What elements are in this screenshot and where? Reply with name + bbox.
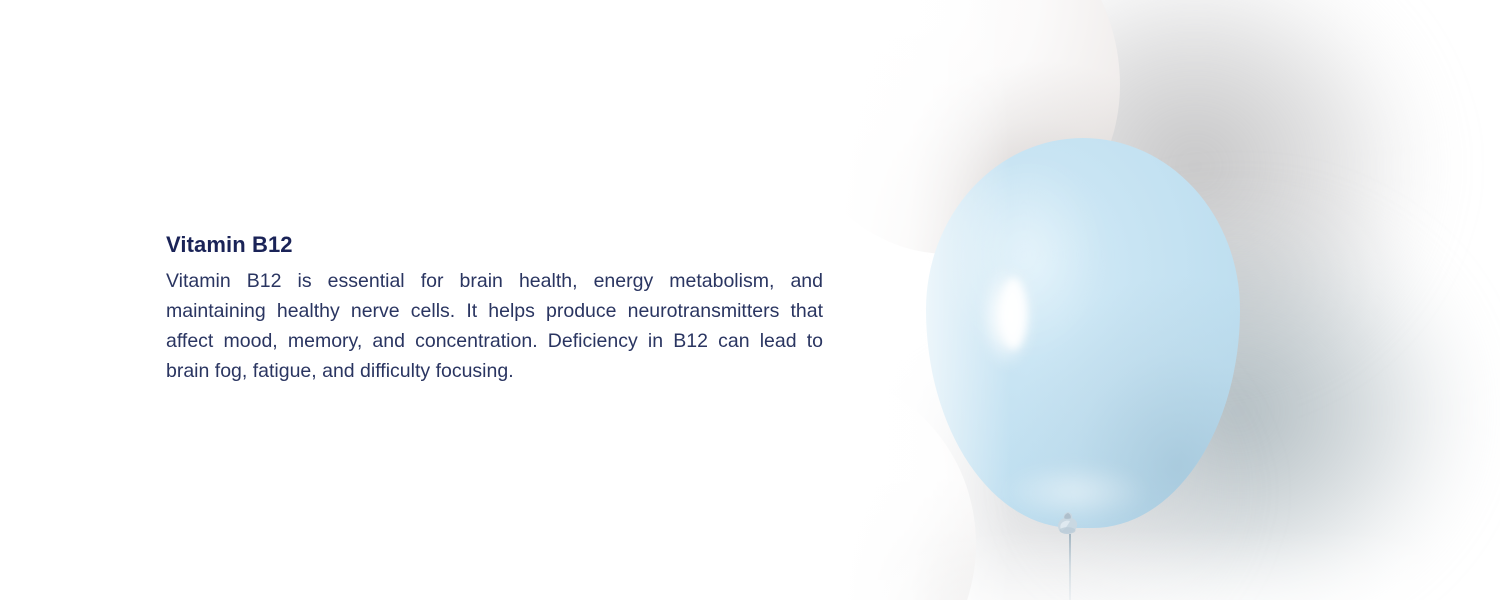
slide-canvas: Vitamin B12 Vitamin B12 is essential for… xyxy=(0,0,1500,600)
balloon-photo xyxy=(780,0,1500,600)
photo-bottom-fade xyxy=(780,530,1500,600)
body-paragraph: Vitamin B12 is essential for brain healt… xyxy=(166,266,823,386)
text-block: Vitamin B12 Vitamin B12 is essential for… xyxy=(166,232,823,386)
page-title: Vitamin B12 xyxy=(166,232,823,258)
